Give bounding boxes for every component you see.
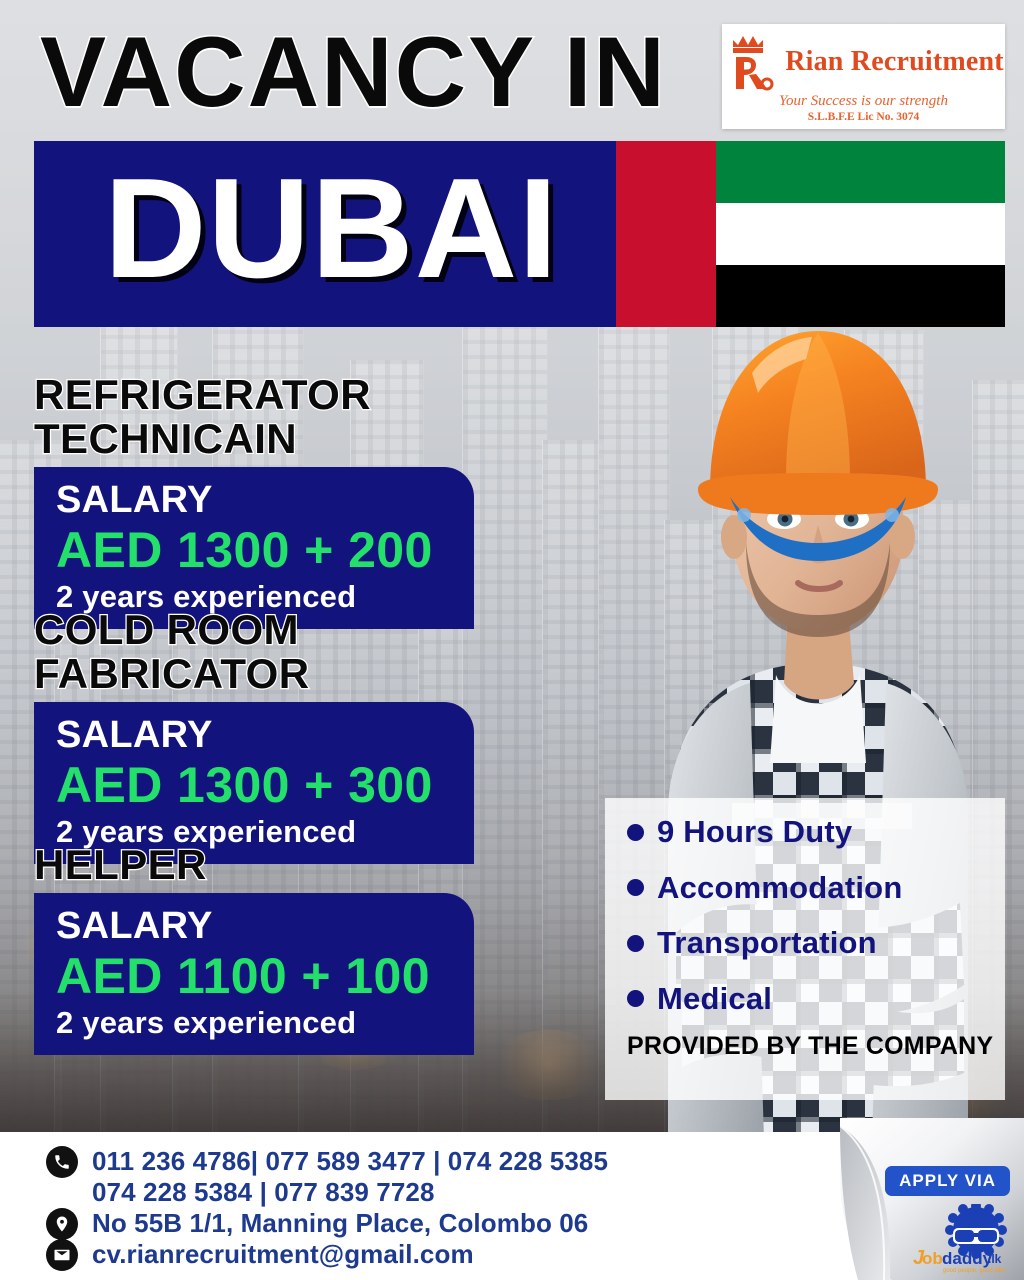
email-address: cv.rianrecruitment@gmail.com — [92, 1239, 474, 1270]
salary-label: SALARY — [56, 714, 452, 757]
country-name: DUBAI — [104, 158, 559, 300]
benefits-footer-note: PROVIDED BY THE COMPANY — [627, 1032, 991, 1061]
salary-box: SALARY AED 1100 + 100 2 years experience… — [34, 893, 474, 1055]
company-logo: Rian Recruitment Your Success is our str… — [722, 24, 1005, 129]
benefit-item: 9 Hours Duty — [627, 816, 991, 849]
contact-list: 011 236 4786| 077 589 3477 | 074 228 538… — [46, 1146, 608, 1270]
job-listing: HELPER SALARY AED 1100 + 100 2 years exp… — [34, 843, 474, 1055]
page-title: VACANCY IN — [40, 22, 667, 121]
bullet-icon — [627, 990, 644, 1007]
logo-tagline: Your Success is our strength — [779, 93, 948, 110]
flag-green-stripe — [716, 141, 1005, 203]
salary-label: SALARY — [56, 905, 452, 948]
phone-numbers-line2: 074 228 5384 | 077 839 7728 — [92, 1177, 435, 1208]
salary-amount: AED 1300 + 300 — [56, 757, 452, 813]
phone-icon — [46, 1146, 78, 1178]
benefits-panel: 9 Hours Duty Accommodation Transportatio… — [605, 798, 1005, 1100]
svg-text:ob: ob — [922, 1249, 943, 1268]
benefit-label: Transportation — [657, 927, 877, 960]
svg-text:good people. good jobs.: good people. good jobs. — [943, 1268, 1007, 1274]
location-pin-icon — [46, 1208, 78, 1240]
salary-label: SALARY — [56, 479, 452, 522]
salary-box: SALARY AED 1300 + 200 2 years experience… — [34, 467, 474, 629]
benefit-label: 9 Hours Duty — [657, 816, 852, 849]
svg-text:daddy: daddy — [942, 1249, 993, 1268]
logo-license-number: S.L.B.F.E Lic No. 3074 — [808, 111, 919, 123]
jobdaddy-logo[interactable]: J ob daddy .lk good people. good jobs. — [910, 1204, 1008, 1276]
office-address: No 55B 1/1, Manning Place, Colombo 06 — [92, 1208, 588, 1239]
job-title: COLD ROOM FABRICATOR — [34, 608, 474, 696]
crown-r-monogram-icon — [723, 31, 779, 93]
svg-text:.lk: .lk — [988, 1252, 1002, 1266]
job-listing: COLD ROOM FABRICATOR SALARY AED 1300 + 3… — [34, 608, 474, 864]
salary-box: SALARY AED 1300 + 300 2 years experience… — [34, 702, 474, 864]
salary-amount: AED 1300 + 200 — [56, 522, 452, 578]
contact-phone-row[interactable]: 011 236 4786| 077 589 3477 | 074 228 538… — [46, 1146, 608, 1177]
logo-company-name: Rian Recruitment — [785, 46, 1004, 78]
bullet-icon — [627, 935, 644, 952]
contact-footer: 011 236 4786| 077 589 3477 | 074 228 538… — [0, 1132, 1024, 1280]
job-title: HELPER — [34, 843, 474, 887]
bullet-icon — [627, 824, 644, 841]
contact-email-row[interactable]: cv.rianrecruitment@gmail.com — [46, 1239, 608, 1270]
contact-address-row[interactable]: No 55B 1/1, Manning Place, Colombo 06 — [46, 1208, 608, 1239]
benefit-item: Medical — [627, 983, 991, 1016]
contact-phone-row-secondary[interactable]: 074 228 5384 | 077 839 7728 — [46, 1177, 608, 1208]
benefit-label: Medical — [657, 983, 772, 1016]
job-listing: REFRIGERATOR TECHNICAIN SALARY AED 1300 … — [34, 373, 474, 629]
salary-amount: AED 1100 + 100 — [56, 948, 452, 1004]
bullet-icon — [627, 879, 644, 896]
envelope-icon — [46, 1239, 78, 1271]
phone-numbers-line1: 011 236 4786| 077 589 3477 | 074 228 538… — [92, 1146, 608, 1177]
apply-via-badge[interactable]: APPLY VIA — [885, 1166, 1010, 1196]
job-title: REFRIGERATOR TECHNICAIN — [34, 373, 474, 461]
experience-requirement: 2 years experienced — [56, 1004, 452, 1041]
benefit-item: Accommodation — [627, 872, 991, 905]
benefit-label: Accommodation — [657, 872, 902, 905]
benefit-item: Transportation — [627, 927, 991, 960]
